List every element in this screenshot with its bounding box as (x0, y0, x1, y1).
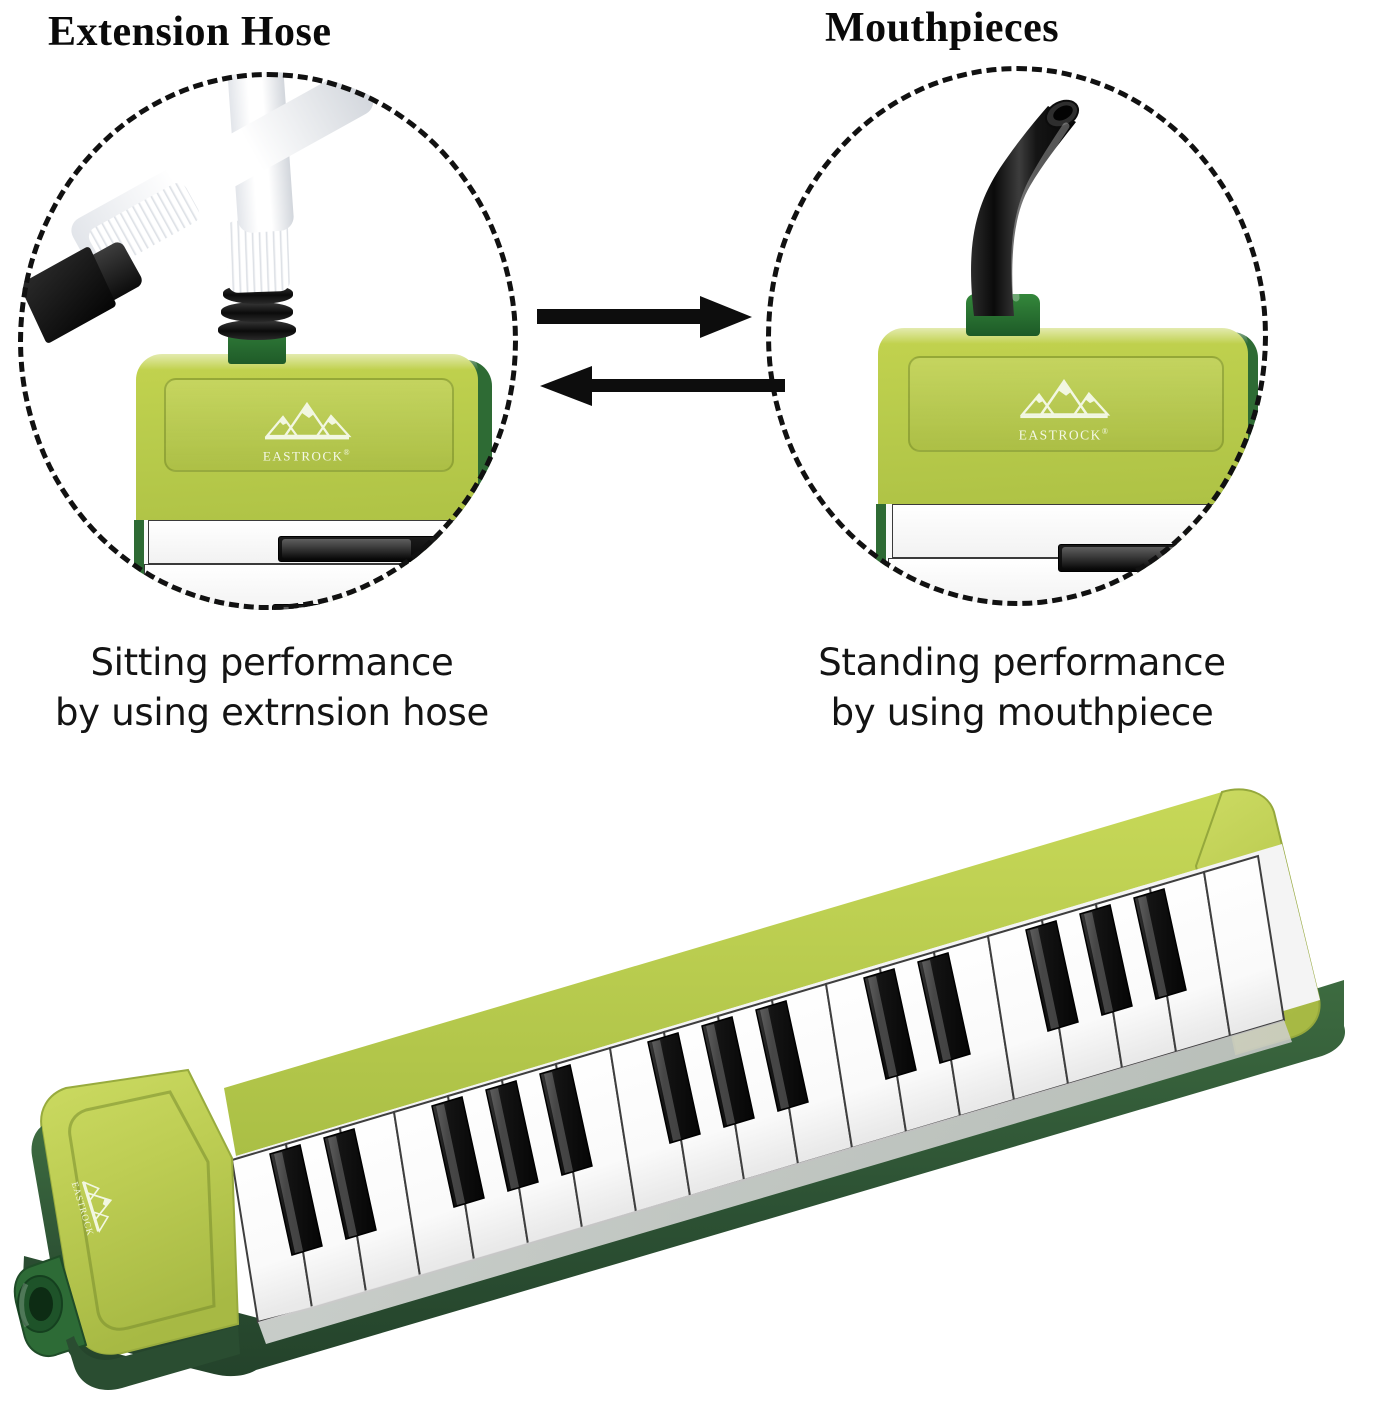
melodica-32-key: EASTROCK (0, 770, 1398, 1400)
left-dashed-circle (18, 72, 518, 610)
caption-standing-performance: Standing performance by using mouthpiece (752, 638, 1292, 738)
right-dashed-circle (766, 66, 1268, 606)
caption-sitting-performance: Sitting performance by using extrnsion h… (12, 638, 532, 738)
heading-extension-hose: Extension Hose (48, 8, 332, 56)
heading-mouthpieces: Mouthpieces (825, 4, 1059, 52)
